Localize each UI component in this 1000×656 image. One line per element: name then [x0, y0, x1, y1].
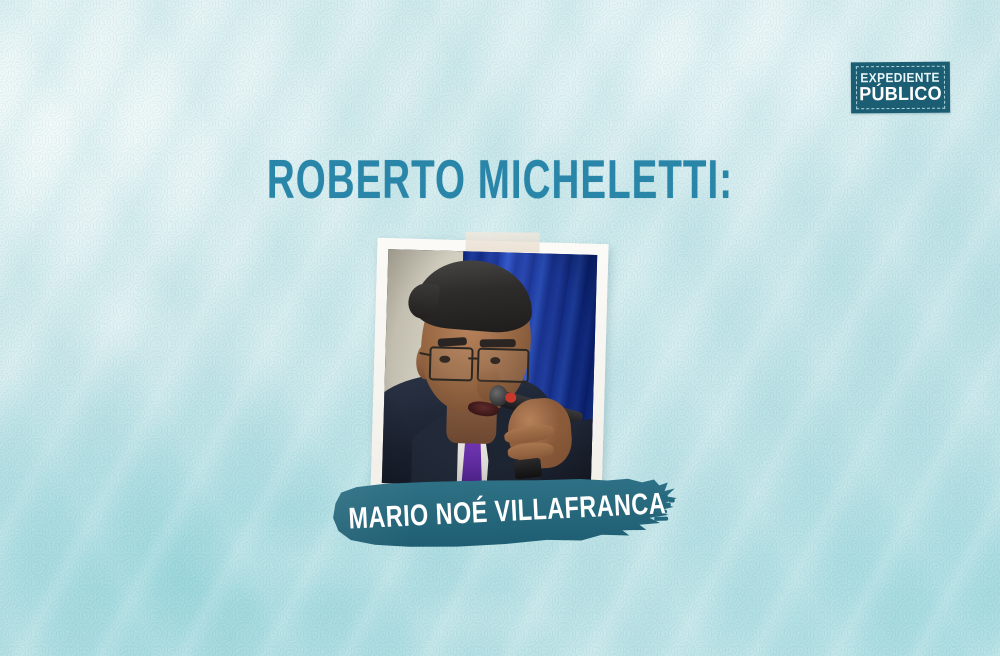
portrait-photo	[382, 249, 597, 489]
logo-line-expediente: EXPEDIENTE	[861, 71, 941, 85]
name-banner: MARIO NOÉ VILLAFRANCA	[332, 476, 677, 549]
masking-tape-icon	[465, 232, 539, 253]
logo-inner: EXPEDIENTE PÚBLICO	[851, 62, 950, 114]
graphic-canvas: EXPEDIENTE PÚBLICO ROBERTO MICHELETTI:	[0, 0, 1000, 656]
portrait-polaroid	[370, 238, 608, 503]
expediente-publico-logo[interactable]: EXPEDIENTE PÚBLICO	[851, 62, 950, 114]
portrait-scene	[382, 249, 597, 489]
scene-vignette	[382, 249, 597, 489]
headline-title: ROBERTO MICHELETTI:	[150, 152, 850, 207]
name-banner-label: MARIO NOÉ VILLAFRANCA	[369, 473, 640, 552]
logo-line-publico: PÚBLICO	[859, 85, 942, 105]
